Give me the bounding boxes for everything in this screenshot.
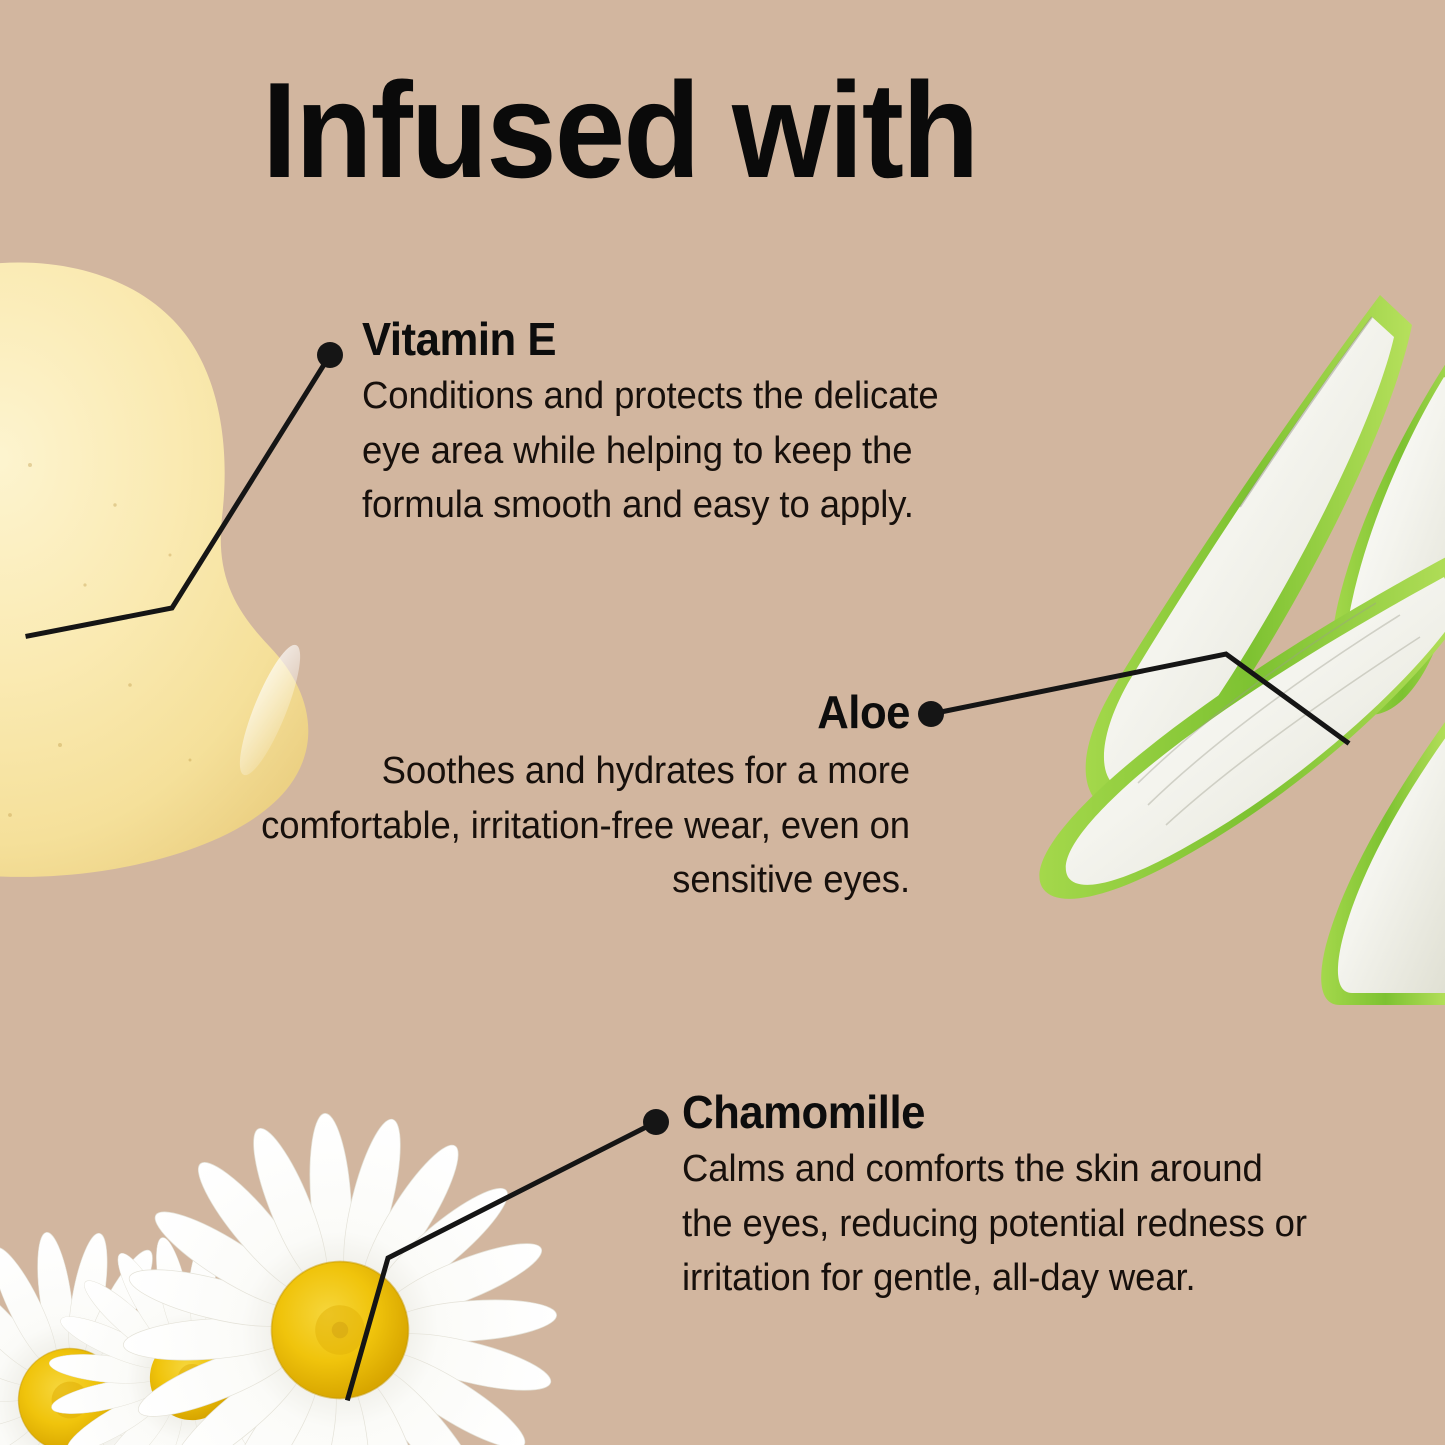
callout-vitamin-e: Vitamin E Conditions and protects the de… (362, 315, 1022, 532)
leader-dot-vitamin-e (317, 342, 343, 368)
serum-specks (0, 463, 191, 817)
leader-dot-chamomille (643, 1109, 669, 1135)
aloe-leaf-1 (1086, 295, 1412, 813)
leader-line-chamomille (348, 1122, 656, 1398)
callout-title-vitamin-e: Vitamin E (362, 315, 989, 363)
callout-title-chamomille: Chamomille (682, 1088, 1309, 1136)
leader-line-vitamin-e (28, 355, 330, 636)
infographic-canvas: Infused with Vitamin E Conditions and pr… (0, 0, 1445, 1445)
callout-body-chamomille: Calms and comforts the skin around the e… (682, 1142, 1316, 1305)
callout-title-aloe: Aloe (245, 688, 910, 736)
aloe-leaves-image (1020, 285, 1445, 1005)
daisy-front (108, 1098, 571, 1445)
aloe-leaf-3 (1039, 555, 1445, 899)
callout-chamomille: Chamomille Calms and comforts the skin a… (682, 1088, 1342, 1305)
leader-line-aloe (931, 654, 1347, 742)
chamomile-flowers-image (0, 1048, 640, 1445)
page-title: Infused with (262, 62, 977, 198)
daisy-mid (34, 1220, 349, 1445)
aloe-leaf-4 (1321, 715, 1445, 1005)
callout-body-vitamin-e: Conditions and protects the delicate eye… (362, 369, 996, 532)
aloe-leaf-2 (1332, 357, 1445, 715)
daisy-back-left (0, 1209, 261, 1445)
callout-aloe: Aloe Soothes and hydrates for a more com… (210, 688, 910, 907)
leader-dot-aloe (918, 701, 944, 727)
callout-body-aloe: Soothes and hydrates for a more comforta… (238, 744, 910, 907)
